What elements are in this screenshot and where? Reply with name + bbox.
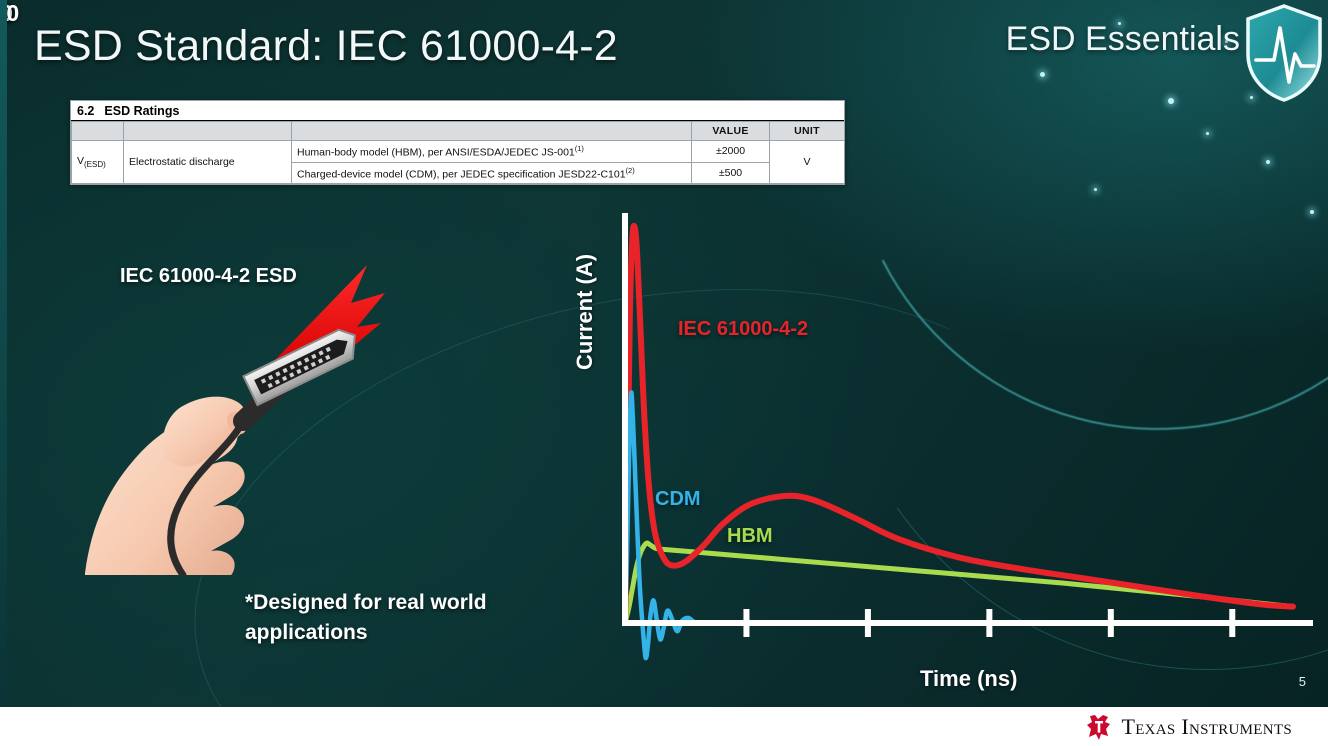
- table-cell-value: ±2000: [692, 141, 770, 163]
- table-section-heading: 6.2ESD Ratings: [71, 101, 844, 121]
- table-cell-description: Charged-device model (CDM), per JEDEC sp…: [292, 162, 692, 184]
- illustration-label: IEC 61000-4-2 ESD: [120, 265, 297, 288]
- left-edge-accent: [0, 0, 7, 707]
- page-title: ESD Standard: IEC 61000-4-2: [34, 22, 618, 71]
- series-line-iec: [625, 226, 1293, 623]
- description-text: Human-body model (HBM), per ANSI/ESDA/JE…: [297, 147, 575, 159]
- series-line-cdm: [625, 392, 702, 658]
- table-header-value: VALUE: [692, 122, 770, 141]
- table-header-unit: UNIT: [770, 122, 845, 141]
- symbol-subscript: (ESD): [84, 160, 106, 169]
- footer-bar: Texas Instruments: [0, 707, 1328, 746]
- table-header-row: VALUE UNIT: [72, 122, 845, 141]
- footnote-note: *Designed for real world applications: [245, 588, 545, 649]
- series-annotation-hbm: HBM: [727, 525, 773, 548]
- footer-company-name: Texas Instruments: [1121, 714, 1292, 740]
- table-header-parameter-blank: [124, 122, 292, 141]
- series-brand-label: ESD Essentials: [1006, 20, 1240, 59]
- slide-canvas: ESD Standard: IEC 61000-4-2 ESD Essentia…: [0, 0, 1328, 746]
- sparkle-dot: [1206, 132, 1209, 135]
- sparkle-dot: [1094, 188, 1097, 191]
- table-header-description-blank: [292, 122, 692, 141]
- table-cell-parameter: Electrostatic discharge: [124, 141, 292, 184]
- footnote-marker: (2): [626, 166, 635, 175]
- table-row: V(ESD) Electrostatic discharge Human-bod…: [72, 141, 845, 163]
- sparkle-dot: [1040, 72, 1045, 77]
- chart-series-group: [625, 226, 1293, 658]
- table-cell-symbol: V(ESD): [72, 141, 124, 184]
- table-section-number: 6.2: [77, 104, 94, 118]
- esd-waveform-chart: [575, 205, 1320, 695]
- ti-mark-icon: [1086, 713, 1112, 741]
- esd-ratings-table: 6.2ESD Ratings VALUE UNIT V(ESD) Electro…: [70, 100, 845, 185]
- texas-instruments-logo-icon: Texas Instruments: [1086, 713, 1292, 741]
- series-annotation-iec: IEC 61000-4-2: [678, 318, 808, 341]
- page-number: 5: [1299, 674, 1306, 689]
- hand-holding-hdmi-cable-icon: [85, 255, 445, 575]
- table-cell-value: ±500: [692, 162, 770, 184]
- description-text: Charged-device model (CDM), per JEDEC sp…: [297, 168, 626, 180]
- table-section-title: ESD Ratings: [104, 104, 179, 118]
- sparkle-dot: [1266, 160, 1270, 164]
- shield-heartbeat-icon: [1242, 2, 1326, 104]
- sparkle-dot: [1168, 98, 1174, 104]
- table-header-symbol-blank: [72, 122, 124, 141]
- chart-y-axis-label: Current (A): [572, 254, 598, 370]
- hand-shape: [85, 397, 251, 575]
- table-cell-unit: V: [770, 141, 845, 184]
- chart-x-axis-label: Time (ns): [920, 666, 1017, 692]
- symbol-base: V: [77, 155, 84, 167]
- table-cell-description: Human-body model (HBM), per ANSI/ESDA/JE…: [292, 141, 692, 163]
- footnote-marker: (1): [575, 144, 584, 153]
- series-annotation-cdm: CDM: [655, 488, 701, 511]
